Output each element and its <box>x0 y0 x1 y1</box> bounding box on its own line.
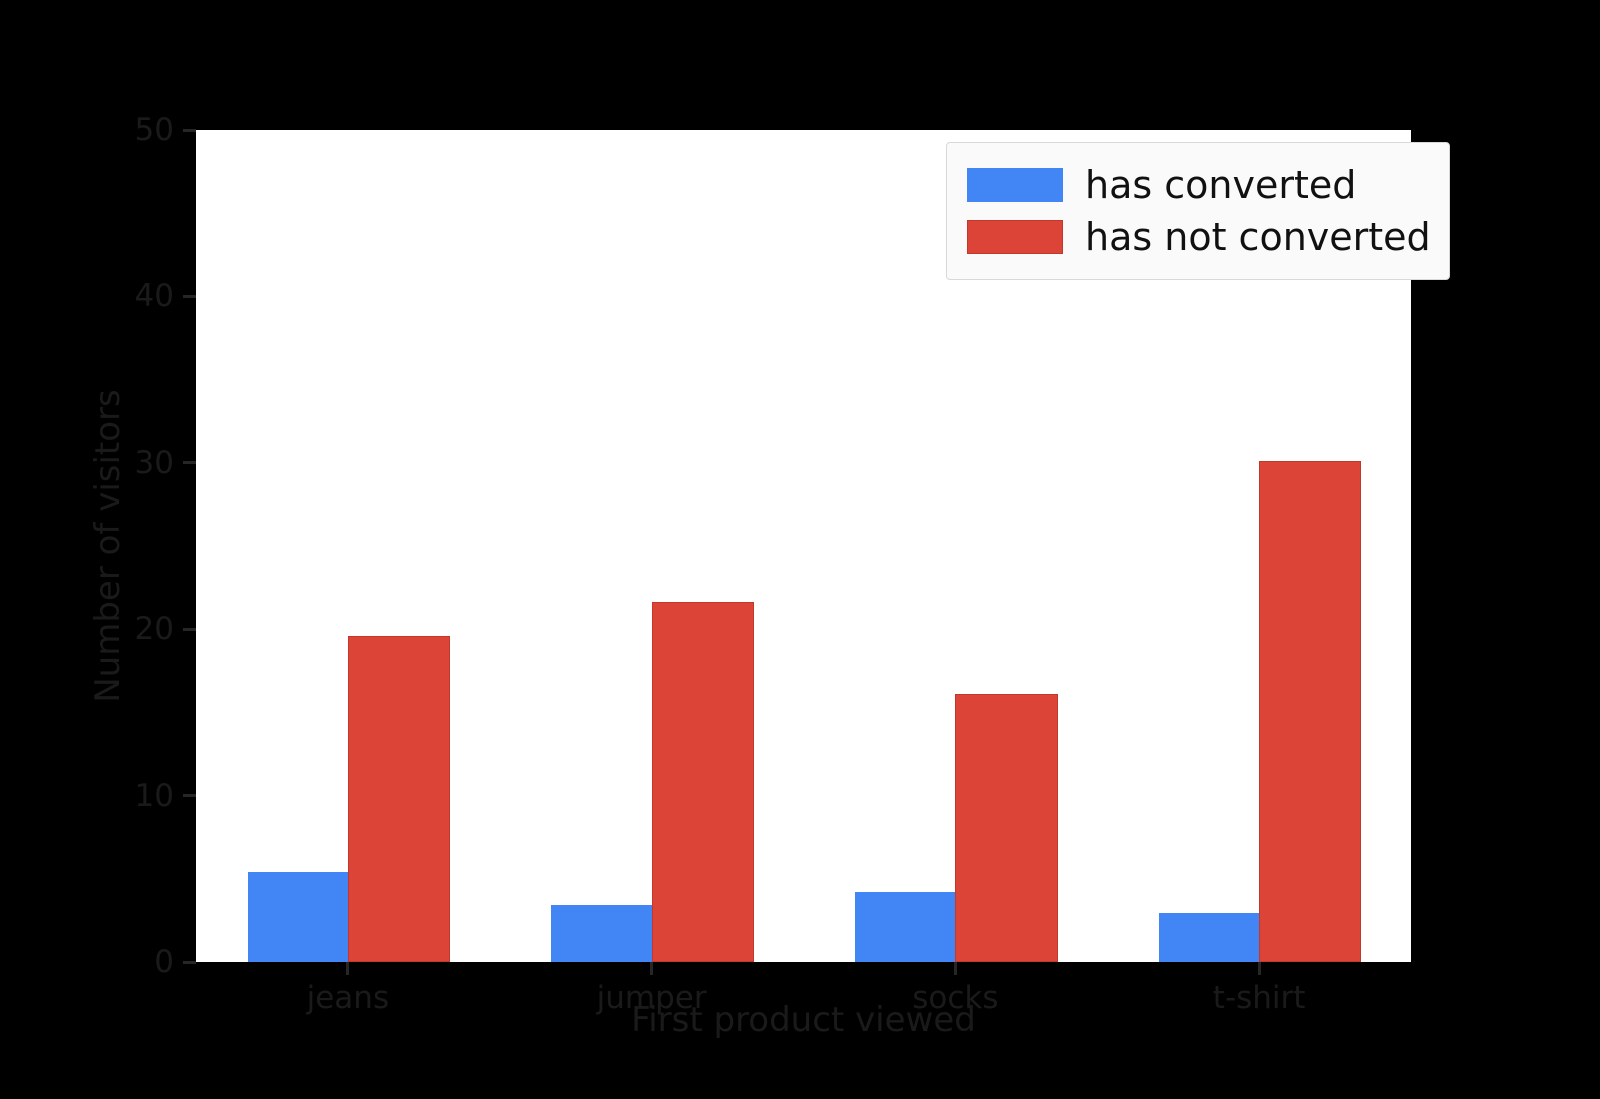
bar-jumper-not-converted[interactable] <box>652 602 754 962</box>
y-tick-label: 30 <box>135 443 174 483</box>
bar-group-jeans <box>248 130 448 962</box>
y-tick-label: 40 <box>135 276 174 316</box>
y-tick-label: 0 <box>154 942 174 982</box>
y-tick-mark <box>183 295 196 298</box>
x-tick-mark <box>650 962 653 975</box>
bar-chart-figure: 01020304050 jeansjumpersockst-shirt Firs… <box>0 0 1600 1099</box>
legend-swatch-icon-has-not-converted <box>967 220 1063 254</box>
y-tick-mark <box>183 628 196 631</box>
bar-jumper-converted[interactable] <box>551 905 653 962</box>
x-tick-mark <box>346 962 349 975</box>
bar-jeans-converted[interactable] <box>248 872 350 962</box>
bar-socks-not-converted[interactable] <box>955 694 1057 962</box>
bar-t-shirt-not-converted[interactable] <box>1259 461 1361 962</box>
y-tick-mark <box>183 461 196 464</box>
legend-entry-has-converted[interactable]: has converted <box>967 159 1431 211</box>
x-tick-mark <box>1258 962 1261 975</box>
y-tick-label: 10 <box>135 776 174 816</box>
legend-label-has-converted: has converted <box>1085 166 1356 204</box>
bar-jeans-not-converted[interactable] <box>348 636 450 962</box>
legend-label-has-not-converted: has not converted <box>1085 218 1431 256</box>
y-tick-mark <box>183 961 196 964</box>
y-axis-title: Number of visitors <box>88 130 132 962</box>
bar-socks-converted[interactable] <box>855 892 957 962</box>
y-tick-label: 20 <box>135 609 174 649</box>
y-tick-mark <box>183 794 196 797</box>
x-tick-mark <box>954 962 957 975</box>
y-tick-mark <box>183 129 196 132</box>
legend: has converted has not converted <box>946 142 1450 280</box>
bar-t-shirt-converted[interactable] <box>1159 913 1261 962</box>
x-axis-title: First product viewed <box>196 1000 1411 1040</box>
legend-entry-has-not-converted[interactable]: has not converted <box>967 211 1431 263</box>
legend-swatch-icon-has-converted <box>967 168 1063 202</box>
y-tick-label: 50 <box>135 110 174 150</box>
bar-group-jumper <box>551 130 751 962</box>
